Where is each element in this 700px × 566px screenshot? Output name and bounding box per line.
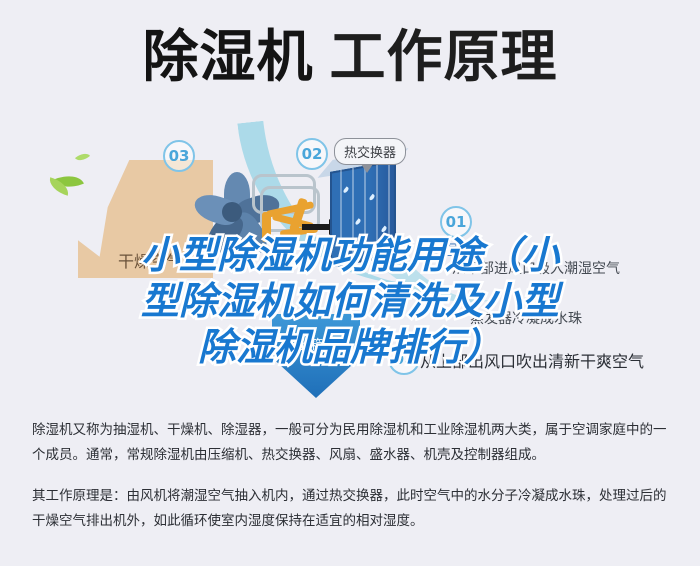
overlay-headline-line-3: 除湿机品牌排行） <box>0 324 700 370</box>
page-title-part1: 除湿机 <box>143 25 314 90</box>
step-badge-02: 02 <box>296 138 328 170</box>
overlay-headline-line-1: 小型除湿机功能用途（小 <box>0 232 700 278</box>
step-badge-03-left: 03 <box>163 140 195 172</box>
leaf-icon <box>75 150 90 164</box>
water-droplet-icon <box>354 218 361 225</box>
poster-page: 除湿机工作原理 干燥空气 <box>0 0 700 566</box>
overlay-headline: 小型除湿机功能用途（小 型除湿机如何清洗及小型 除湿机品牌排行） <box>0 232 700 370</box>
fan-hub <box>222 202 242 222</box>
page-title: 除湿机工作原理 <box>0 26 700 90</box>
heat-exchanger-callout: 热交换器 <box>334 138 406 165</box>
water-droplet-icon <box>368 194 375 201</box>
page-title-part2: 工作原理 <box>330 25 558 90</box>
article-paragraph-1: 除湿机又称为抽湿机、干燥机、除湿器，一般可分为民用除湿机和工业除湿机两大类，属于… <box>32 418 672 468</box>
overlay-headline-line-2: 型除湿机如何清洗及小型 <box>0 278 700 324</box>
water-droplet-icon <box>342 186 349 193</box>
airflow-arrow-icon <box>302 224 330 230</box>
article-body: 除湿机又称为抽湿机、干燥机、除湿器，一般可分为民用除湿机和工业除湿机两大类，属于… <box>32 418 672 534</box>
article-paragraph-2: 其工作原理是：由风机将潮湿空气抽入机内，通过热交换器，此时空气中的水分子冷凝成水… <box>32 484 672 534</box>
